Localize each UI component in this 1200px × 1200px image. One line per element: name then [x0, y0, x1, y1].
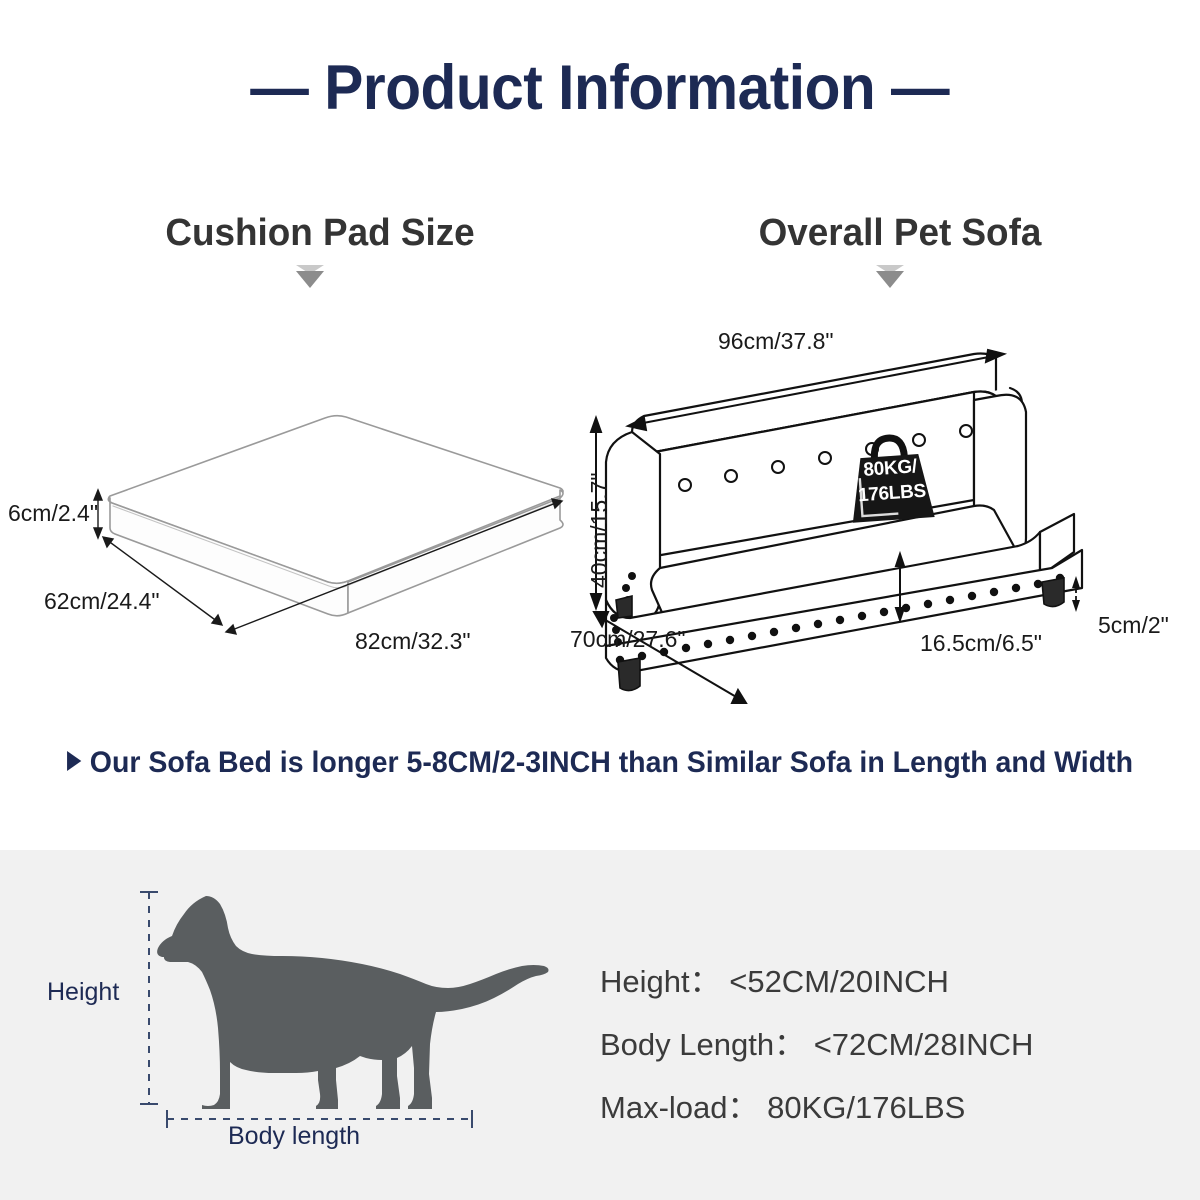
- dim-sofa-foot-height: 5cm/2": [1098, 612, 1169, 639]
- dim-sofa-depth: 70cm/27.6": [570, 626, 686, 653]
- highlight-callout: Our Sofa Bed is longer 5-8CM/2-3INCH tha…: [30, 746, 1170, 780]
- weight-tag-icon: 80KG/ 176LBS: [835, 428, 947, 531]
- dim-sofa-height: 40cm/15.7": [586, 472, 613, 588]
- product-information-infographic: — Product Information — Cushion Pad Size…: [0, 0, 1200, 1200]
- chevron-down-icon: [872, 262, 908, 292]
- page-title: — Product Information —: [251, 52, 950, 124]
- dim-sofa-width: 96cm/37.8": [718, 328, 834, 355]
- spec-height: Height： <52CM/20INCH: [600, 950, 1160, 1013]
- triangle-right-icon: [67, 751, 81, 771]
- dim-sofa-seat-height: 16.5cm/6.5": [920, 630, 1042, 657]
- dim-cushion-width: 82cm/32.3": [355, 628, 471, 655]
- dog-body-length-label: Body length: [228, 1122, 360, 1151]
- pet-spec-list: Height： <52CM/20INCH Body Length： <72CM/…: [600, 950, 1160, 1139]
- dog-height-label: Height: [47, 978, 119, 1007]
- cushion-pad-diagram: 6cm/2.4" 62cm/24.4" 82cm/32.3": [0, 300, 600, 720]
- section-heading-cushion: Cushion Pad Size: [68, 212, 572, 255]
- section-heading-sofa: Overall Pet Sofa: [648, 212, 1152, 255]
- spec-max-load: Max-load： 80KG/176LBS: [600, 1076, 1160, 1139]
- highlight-text: Our Sofa Bed is longer 5-8CM/2-3INCH tha…: [90, 746, 1133, 779]
- spec-body-length: Body Length： <72CM/28INCH: [600, 1013, 1160, 1076]
- dog-measurement-diagram: [30, 862, 560, 1162]
- chevron-down-icon: [292, 262, 328, 292]
- dim-cushion-thickness: 6cm/2.4": [8, 500, 98, 527]
- page-title-wrap: — Product Information —: [0, 52, 1200, 124]
- weight-tag-text: 80KG/ 176LBS: [836, 452, 945, 509]
- dim-cushion-depth: 62cm/24.4": [44, 588, 160, 615]
